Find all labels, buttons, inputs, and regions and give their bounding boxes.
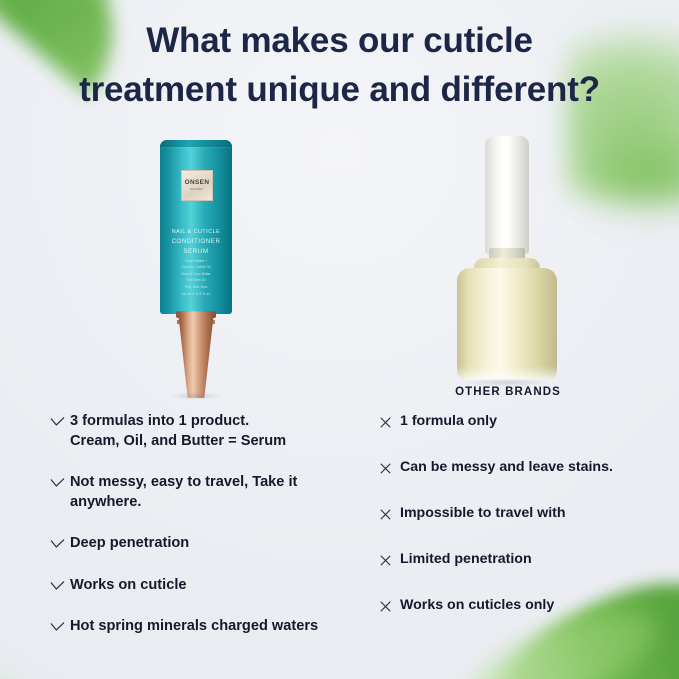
cross-icon xyxy=(380,504,400,520)
cons-item-text: Can be messy and leave stains. xyxy=(400,458,613,477)
check-icon xyxy=(50,534,70,549)
pros-item-text: Works on cuticle xyxy=(70,576,187,596)
pros-item-text: Not messy, easy to travel, Take it anywh… xyxy=(70,473,297,512)
onsen-serum-tube: ONSEN SECRET NAIL & CUTICLE CONDITIONER … xyxy=(143,140,249,402)
page-title-line-1: What makes our cuticle xyxy=(146,21,533,60)
pros-column: 3 formulas into 1 product. Cream, Oil, a… xyxy=(50,412,350,659)
list-item: Hot spring minerals charged waters xyxy=(50,617,350,637)
other-brands-bottle: OTHER BRANDS xyxy=(433,128,583,406)
list-item: Impossible to travel with xyxy=(380,504,670,523)
onsen-brand-badge: ONSEN SECRET xyxy=(181,170,213,201)
brand-subtitle: SECRET xyxy=(190,188,204,191)
list-item: Deep penetration xyxy=(50,534,350,554)
tube-top-seam xyxy=(160,140,232,147)
page-title-line-2: treatment unique and different? xyxy=(0,65,679,114)
tube-product-label: NAIL & CUTICLE CONDITIONER SERUM xyxy=(160,228,232,257)
list-item: Works on cuticles only xyxy=(380,596,670,615)
pros-item-text: Deep penetration xyxy=(70,534,189,554)
infographic-page: What makes our cuticle treatment unique … xyxy=(0,0,679,679)
pros-item-line-2: anywhere. xyxy=(70,494,141,510)
cons-item-text: Works on cuticles only xyxy=(400,596,554,615)
cross-icon xyxy=(380,412,400,428)
list-item: 1 formula only xyxy=(380,412,670,431)
cons-item-text: Impossible to travel with xyxy=(400,504,566,523)
list-item: Can be messy and leave stains. xyxy=(380,458,670,477)
check-icon xyxy=(50,576,70,591)
pros-item-text: Hot spring minerals charged waters xyxy=(70,617,318,637)
product-comparison-images: ONSEN SECRET NAIL & CUTICLE CONDITIONER … xyxy=(0,128,679,406)
pros-item-text: 3 formulas into 1 product. Cream, Oil, a… xyxy=(70,412,286,451)
pros-item-line-1: 3 formulas into 1 product. xyxy=(70,413,249,429)
cross-icon xyxy=(380,596,400,612)
list-item: Limited penetration xyxy=(380,550,670,569)
tube-rose-gold-nozzle xyxy=(178,312,214,398)
other-brands-caption: OTHER BRANDS xyxy=(433,386,583,398)
pros-item-line-1: Not messy, easy to travel, Take it xyxy=(70,474,297,490)
page-title: What makes our cuticle treatment unique … xyxy=(0,16,679,114)
cons-item-text: Limited penetration xyxy=(400,550,532,569)
cross-icon xyxy=(380,550,400,566)
tube-label-line-3: SERUM xyxy=(160,247,232,257)
list-item: Works on cuticle xyxy=(50,576,350,596)
check-icon xyxy=(50,617,70,632)
bottle-cap xyxy=(485,136,529,254)
tube-volume: 15 ml e 0.5 fl oz xyxy=(160,292,232,296)
tube-label-line-2: CONDITIONER xyxy=(160,237,232,247)
list-item: Not messy, easy to travel, Take it anywh… xyxy=(50,473,350,512)
pros-item-line-2: Cream, Oil, and Butter = Serum xyxy=(70,433,286,449)
tube-ingredients-fine-print: Onsen Water + Glycerin, Cuticle Oil Shea… xyxy=(160,258,232,290)
cons-column: 1 formula only Can be messy and leave st… xyxy=(380,412,670,642)
check-icon xyxy=(50,473,70,488)
tube-shadow xyxy=(169,392,223,400)
brand-name: ONSEN xyxy=(185,180,210,186)
tube-label-line-1: NAIL & CUTICLE xyxy=(160,228,232,237)
cons-item-text: 1 formula only xyxy=(400,412,497,431)
bottle-body xyxy=(457,268,557,380)
ingredient-line: PhD, Aloe Vera xyxy=(160,284,232,290)
cross-icon xyxy=(380,458,400,474)
list-item: 3 formulas into 1 product. Cream, Oil, a… xyxy=(50,412,350,451)
check-icon xyxy=(50,412,70,427)
